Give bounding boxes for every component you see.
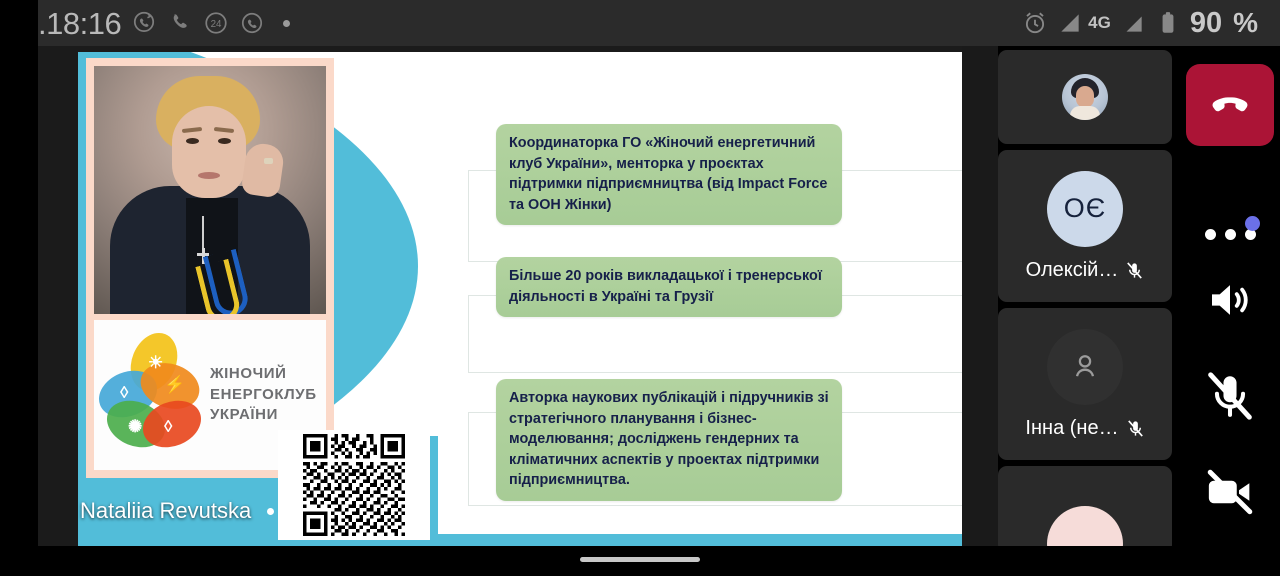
call-toolbar[interactable] — [1180, 46, 1280, 546]
video-camera-off-icon — [1203, 465, 1257, 519]
battery-icon — [1155, 10, 1181, 36]
status-time: .18:16 — [38, 8, 121, 39]
bullet-box-1: Координаторка ГО «Жіночий енергетичний к… — [496, 124, 842, 225]
person-silhouette-icon — [1068, 350, 1102, 384]
qr-code-graphic — [282, 434, 426, 536]
battery-percent-sign: % — [1233, 7, 1258, 39]
participant-tile-2[interactable]: ОЄ Олексій… — [998, 150, 1172, 302]
speaker-photo — [94, 66, 326, 314]
presenter-label: Nataliia Revutska — [80, 498, 300, 524]
bullet-box-2: Більше 20 років викладацької і тренерськ… — [496, 257, 842, 317]
signal-bars-icon-2 — [1120, 10, 1146, 36]
three-dots-icon[interactable] — [267, 508, 300, 515]
avatar — [1062, 74, 1108, 120]
bolt-glyph: ⚡ — [164, 376, 185, 393]
battery-level: 90 — [1190, 7, 1222, 40]
end-call-icon — [1205, 80, 1255, 130]
speaker-photo-frame: ☀ ◊ ⚡ ✺ ◊ ЖІНОЧИЙ ЕНЕРГОКЛУБ УКРАЇНИ — [86, 58, 334, 478]
wind-glyph: ✺ — [128, 418, 142, 435]
bullet-box-3: Авторка наукових публікацій і підручникі… — [496, 379, 842, 501]
microphone-off-icon — [1126, 419, 1145, 438]
microphone-button[interactable] — [1186, 364, 1274, 428]
speaker-button[interactable] — [1186, 268, 1274, 332]
logo-flower-mark: ☀ ◊ ⚡ ✺ ◊ — [98, 336, 202, 454]
three-dots-icon — [1205, 229, 1256, 240]
phone-screen: .18:16 24 — [0, 0, 1280, 576]
microphone-off-icon — [1203, 369, 1257, 423]
camera-notch — [0, 0, 38, 46]
participant-name-2: Олексій… — [1026, 259, 1119, 282]
logo-wordmark: ЖІНОЧИЙ ЕНЕРГОКЛУБ УКРАЇНИ — [210, 364, 317, 426]
qr-code-icon — [278, 430, 430, 540]
status-bar-left: .18:16 24 — [38, 0, 290, 46]
logo-line-1: ЖІНОЧИЙ — [210, 364, 317, 385]
sun-glyph: ☀ — [148, 354, 163, 371]
camera-button[interactable] — [1186, 460, 1274, 524]
speaker-on-icon — [1203, 273, 1257, 327]
avatar — [1047, 329, 1123, 405]
more-options-button[interactable] — [1186, 202, 1274, 266]
presentation-slide: ☀ ◊ ⚡ ✺ ◊ ЖІНОЧИЙ ЕНЕРГОКЛУБ УКРАЇНИ — [78, 52, 962, 546]
status-bar: .18:16 24 — [0, 0, 1280, 46]
shared-screen-stage[interactable]: ☀ ◊ ⚡ ✺ ◊ ЖІНОЧИЙ ЕНЕРГОКЛУБ УКРАЇНИ — [38, 46, 962, 546]
participant-strip[interactable]: ОЄ Олексій… Інна (не… — [998, 50, 1172, 550]
microphone-off-icon — [1125, 261, 1144, 280]
alarm-clock-icon — [1022, 10, 1048, 36]
participant-tile-3[interactable]: Інна (не… — [998, 308, 1172, 460]
logo-line-3: УКРАЇНИ — [210, 405, 317, 426]
participant-tile-4[interactable] — [998, 466, 1172, 554]
stage-right-edge — [962, 46, 998, 546]
end-call-button[interactable] — [1186, 64, 1274, 146]
svg-text:24: 24 — [211, 19, 222, 30]
presenter-name: Nataliia Revutska — [80, 498, 251, 524]
slide-accent-strip — [78, 534, 962, 546]
stage-left-edge — [0, 46, 38, 546]
water-glyph: ◊ — [120, 384, 128, 401]
navigation-bar — [0, 546, 1280, 576]
viber-icon-2 — [239, 10, 265, 36]
participant-label-3: Інна (не… — [1025, 417, 1144, 440]
network-type-label: 4G — [1088, 13, 1111, 33]
signal-bars-icon — [1057, 10, 1083, 36]
badge-24-icon: 24 — [203, 10, 229, 36]
participant-name-3: Інна (не… — [1025, 417, 1118, 440]
participant-tile-1[interactable] — [998, 50, 1172, 144]
home-pill-icon[interactable] — [580, 557, 700, 562]
fire-glyph: ◊ — [164, 418, 172, 435]
viber-icon — [131, 10, 157, 36]
phone-call-icon — [167, 10, 193, 36]
avatar: ОЄ — [1047, 171, 1123, 247]
participant-label-2: Олексій… — [1026, 259, 1145, 282]
status-bar-right: 4G 90 % — [1022, 0, 1258, 46]
dot-indicator-icon — [283, 20, 290, 27]
logo-line-2: ЕНЕРГОКЛУБ — [210, 385, 317, 406]
notification-badge — [1245, 216, 1260, 231]
